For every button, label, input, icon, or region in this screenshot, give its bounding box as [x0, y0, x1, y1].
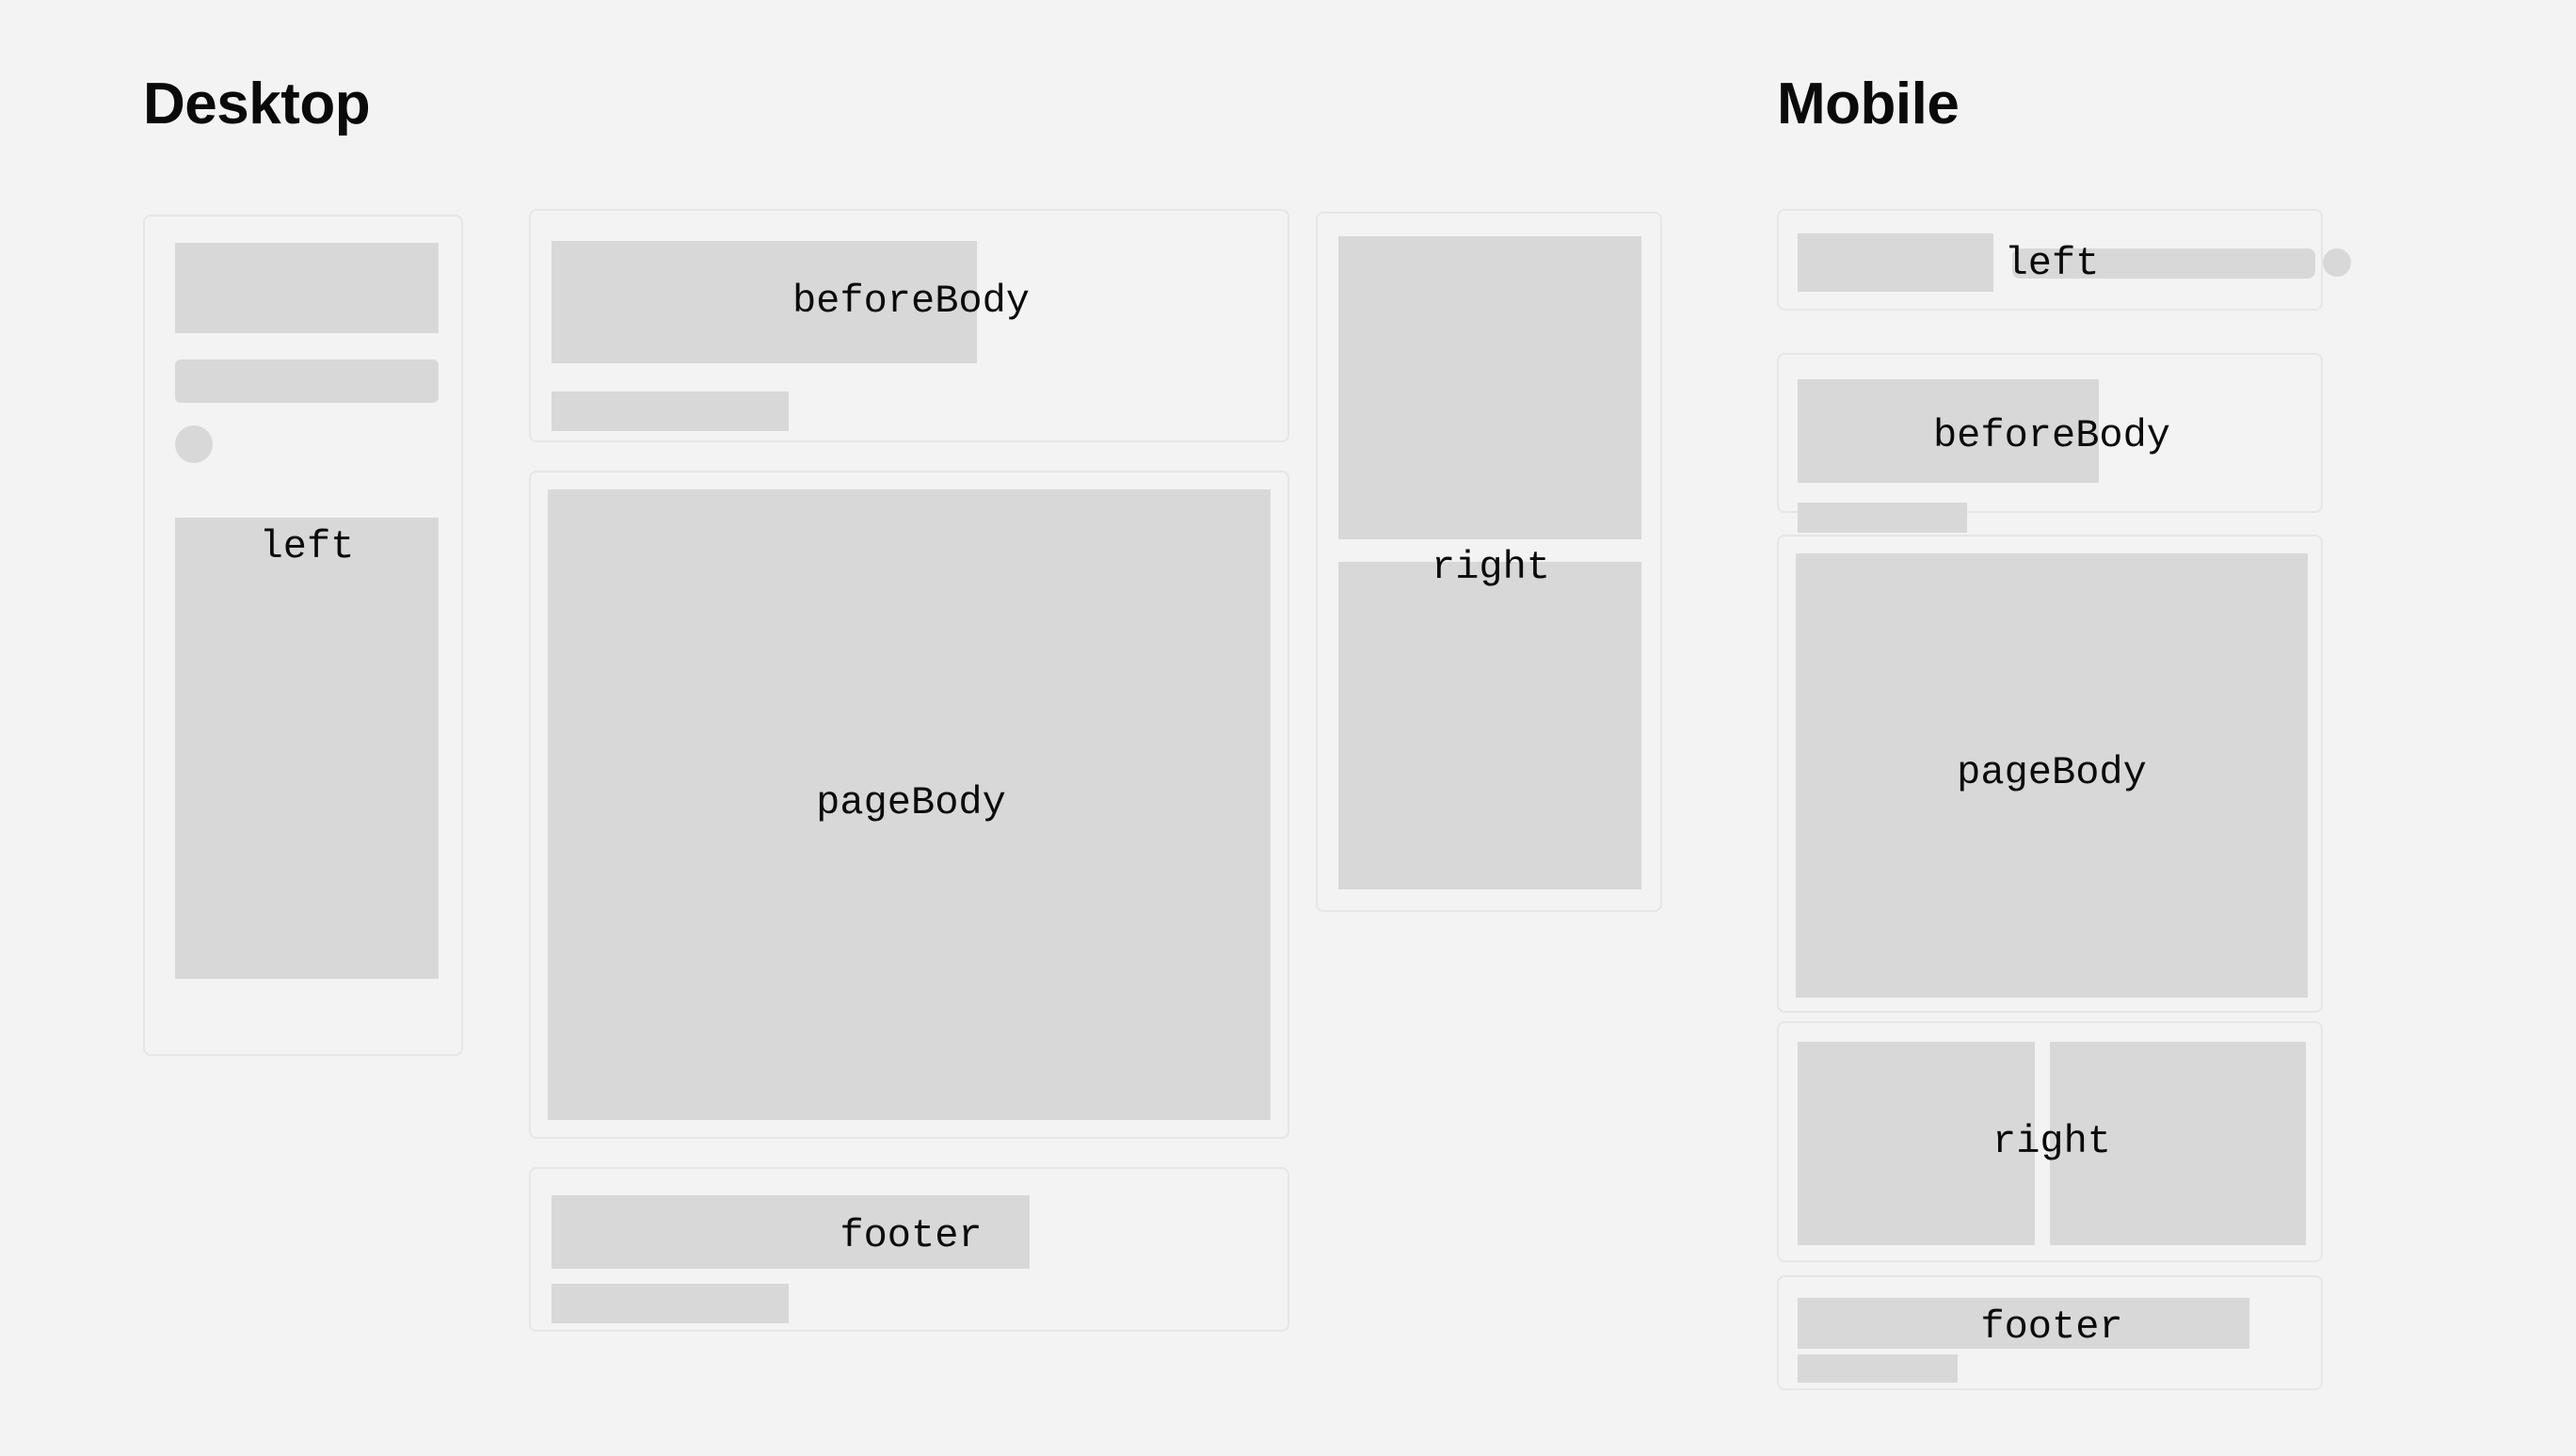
desktop-footer-region-panel[interactable]: footer [529, 1167, 1289, 1332]
mobile-left-region-panel[interactable]: left [1777, 209, 2323, 311]
mobile-right-left-column-block [1798, 1042, 2035, 1245]
wireframe-canvas: Desktop left beforeBody pageBody footer … [0, 0, 2576, 1456]
mobile-right-right-column-block [2050, 1042, 2306, 1245]
mobile-pagebody-main-block [1796, 553, 2308, 998]
desktop-beforebody-main-block [552, 241, 977, 363]
desktop-right-lower-block [1338, 562, 1641, 889]
desktop-pagebody-main-block [548, 489, 1271, 1120]
mobile-footer-region-panel[interactable]: footer [1777, 1275, 2323, 1390]
desktop-right-region-panel[interactable]: right [1316, 212, 1662, 912]
mobile-left-thumb-block [1798, 233, 1993, 292]
mobile-footer-main-block [1798, 1298, 2249, 1349]
mobile-beforebody-small-block [1798, 503, 1967, 533]
mobile-left-bar-block [2012, 248, 2315, 279]
mobile-right-region-panel[interactable]: right [1777, 1021, 2323, 1262]
desktop-footer-small-block [552, 1284, 789, 1323]
desktop-left-header-block [175, 243, 439, 333]
desktop-left-nav-block [175, 518, 439, 979]
desktop-left-region-panel[interactable]: left [143, 215, 463, 1056]
desktop-beforebody-small-block [552, 392, 789, 431]
mobile-beforebody-main-block [1798, 379, 2099, 483]
desktop-right-upper-block [1338, 236, 1641, 539]
desktop-left-bar-block [175, 360, 439, 403]
desktop-pagebody-region-panel[interactable]: pageBody [529, 471, 1289, 1139]
desktop-left-avatar-dot [175, 425, 213, 463]
desktop-section-heading: Desktop [143, 75, 370, 134]
mobile-section-heading: Mobile [1777, 75, 1959, 134]
mobile-footer-small-block [1798, 1354, 1958, 1383]
mobile-left-avatar-dot [2323, 248, 2351, 277]
desktop-footer-main-block [552, 1195, 1030, 1269]
mobile-pagebody-region-panel[interactable]: pageBody [1777, 535, 2323, 1013]
desktop-beforebody-region-panel[interactable]: beforeBody [529, 209, 1289, 442]
mobile-beforebody-region-panel[interactable]: beforeBody [1777, 353, 2323, 513]
